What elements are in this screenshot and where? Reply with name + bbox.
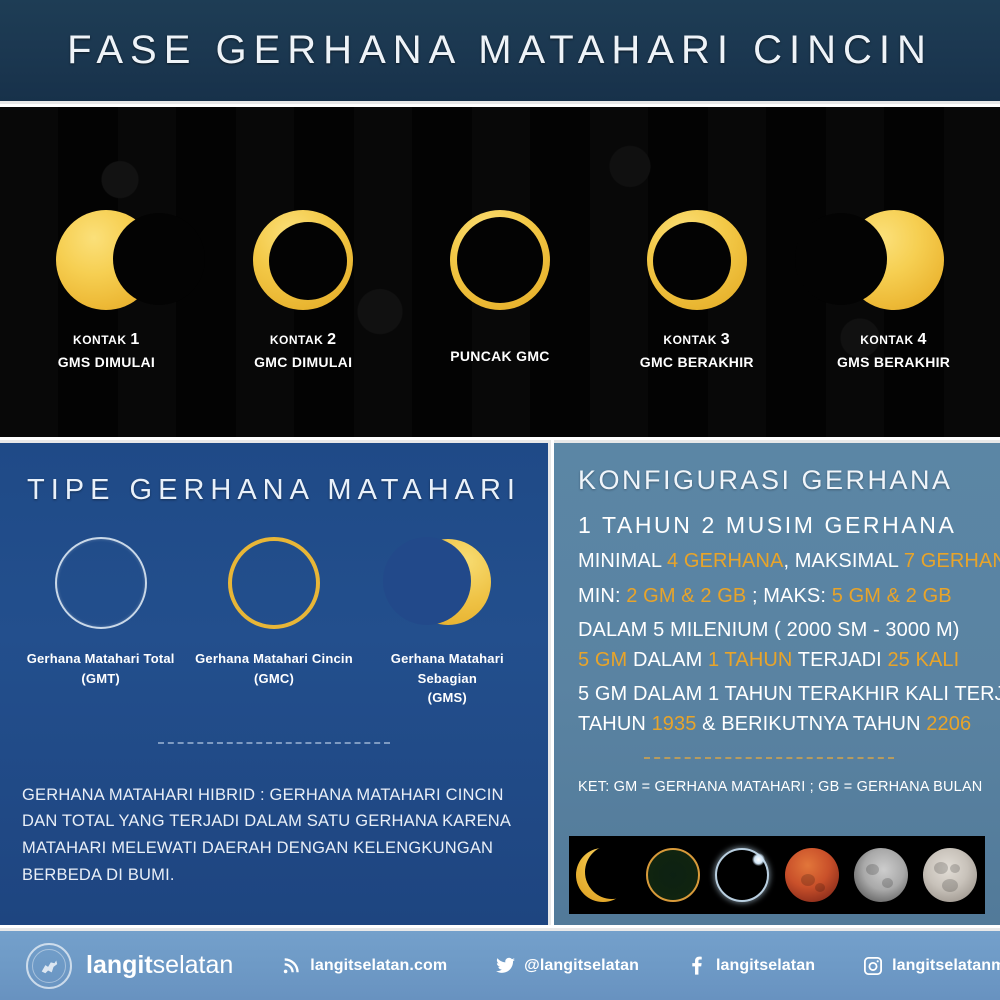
phase-item-kontak-1: KONTAK 1 GMS DIMULAI xyxy=(16,107,196,372)
stat-minimal-maksimal: MINIMAL 4 GERHANA, MAKSIMAL 7 GERHANA xyxy=(578,550,1000,574)
phase-kontak-label: KONTAK 4 xyxy=(837,329,950,351)
konfigurasi-lead: 1 TAHUN 2 MUSIM GERHANA xyxy=(578,512,1000,539)
social-link-instagram[interactable]: langitselatanmedia xyxy=(863,956,1000,976)
tipe-section-title: TIPE GERHANA MATAHARI xyxy=(0,474,548,507)
social-link-facebook[interactable]: langitselatan xyxy=(687,956,815,976)
sun-bite-left-icon xyxy=(839,205,949,315)
crescent-icon xyxy=(399,535,495,631)
eclipse-types-panel: TIPE GERHANA MATAHARI Gerhana Matahari T… xyxy=(0,440,551,925)
footer-bar: langitselatan langitselatan.com xyxy=(0,928,1000,1000)
annular-ring-thick-right-icon xyxy=(642,205,752,315)
phase-sub-label: PUNCAK GMC xyxy=(450,347,549,367)
total-eclipse-diamond-ring-photo xyxy=(711,844,773,906)
hybrid-eclipse-description: GERHANA MATAHARI HIBRID : GERHANA MATAHA… xyxy=(22,782,526,889)
blood-moon-photo xyxy=(781,844,843,906)
stat-min-maks-gm-gb: MIN: 2 GM & 2 GB ; MAKS: 5 GM & 2 GB xyxy=(578,585,1000,609)
phase-sub-label: GMS BERAKHIR xyxy=(837,353,950,373)
phase-item-kontak-3: KONTAK 3 GMC BERAKHIR xyxy=(607,107,787,372)
phase-kontak-label: KONTAK 1 xyxy=(58,329,155,351)
type-item-gmc: Gerhana Matahari Cincin (GMC) xyxy=(191,535,356,688)
type-caption: Gerhana Matahari Cincin (GMC) xyxy=(195,649,353,688)
brand-wordmark: langitselatan xyxy=(86,951,233,980)
eclipse-photo-strip xyxy=(569,836,985,914)
social-label: langitselatan xyxy=(716,957,815,975)
phase-item-kontak-4: KONTAK 4 GMS BERAKHIR xyxy=(804,107,984,372)
social-label: langitselatan.com xyxy=(310,957,447,975)
annular-ring-photo xyxy=(642,844,704,906)
annular-ring-thin-icon xyxy=(445,205,555,315)
total-eclipse-outline-icon xyxy=(53,535,149,631)
twitter-icon xyxy=(495,956,515,976)
eclipse-phases-panel: KONTAK 1 GMS DIMULAI KONTAK 2 GMC DIMULA… xyxy=(0,107,1000,437)
annular-ring-thick-left-icon xyxy=(248,205,358,315)
instagram-icon xyxy=(863,956,883,976)
dashed-divider xyxy=(644,757,894,759)
stat-5gm-per-tahun: 5 GM DALAM 1 TAHUN TERJADI 25 KALI xyxy=(578,649,1000,673)
horse-rider-glyph xyxy=(38,956,60,976)
full-moon-photo xyxy=(919,844,981,906)
type-caption: Gerhana Matahari Sebagian (GMS) xyxy=(365,649,530,708)
social-label: langitselatanmedia xyxy=(892,957,1000,975)
langitselatan-logo-icon xyxy=(26,943,72,989)
phase-sub-label: GMC BERAKHIR xyxy=(640,353,754,373)
stat-tahun-berikutnya: TAHUN 1935 & BERIKUTNYA TAHUN 2206 xyxy=(578,713,1000,737)
type-item-gms: Gerhana Matahari Sebagian (GMS) xyxy=(365,535,530,708)
infographic-page: FASE GERHANA MATAHARI CINCIN KONTAK 1 GM… xyxy=(0,0,1000,1000)
annular-crescent-photo xyxy=(573,844,635,906)
phase-kontak-label: KONTAK 2 xyxy=(254,329,352,351)
social-link-website[interactable]: langitselatan.com xyxy=(281,956,447,976)
social-label: @langitselatan xyxy=(524,957,639,975)
phase-item-puncak: PUNCAK GMC xyxy=(410,107,590,367)
type-caption: Gerhana Matahari Total (GMT) xyxy=(27,649,175,688)
page-title: FASE GERHANA MATAHARI CINCIN xyxy=(67,28,933,73)
phase-sub-label: GMC DIMULAI xyxy=(254,353,352,373)
stat-milenium: DALAM 5 MILENIUM ( 2000 SM - 3000 M) xyxy=(578,619,1000,643)
partial-lunar-eclipse-photo xyxy=(850,844,912,906)
konfigurasi-section-title: KONFIGURASI GERHANA xyxy=(578,465,1000,496)
legend-note: KET: GM = GERHANA MATAHARI ; GB = GERHAN… xyxy=(578,779,1000,795)
phase-kontak-label: KONTAK 3 xyxy=(640,329,754,351)
stat-terakhir-kali: 5 GM DALAM 1 TAHUN TERAKHIR KALI TERJADI xyxy=(578,683,1000,707)
facebook-icon xyxy=(687,956,707,976)
phase-item-kontak-2: KONTAK 2 GMC DIMULAI xyxy=(213,107,393,372)
rss-icon xyxy=(281,956,301,976)
dashed-divider xyxy=(158,742,390,744)
sun-bite-right-icon xyxy=(51,205,161,315)
annular-ring-icon xyxy=(226,535,322,631)
social-links: langitselatan.com @langitselatan langits… xyxy=(233,956,1000,976)
type-item-gmt: Gerhana Matahari Total (GMT) xyxy=(18,535,183,688)
social-link-twitter[interactable]: @langitselatan xyxy=(495,956,639,976)
header-banner: FASE GERHANA MATAHARI CINCIN xyxy=(0,0,1000,104)
phase-sub-label: GMS DIMULAI xyxy=(58,353,155,373)
eclipse-configuration-panel: KONFIGURASI GERHANA 1 TAHUN 2 MUSIM GERH… xyxy=(554,440,1000,925)
